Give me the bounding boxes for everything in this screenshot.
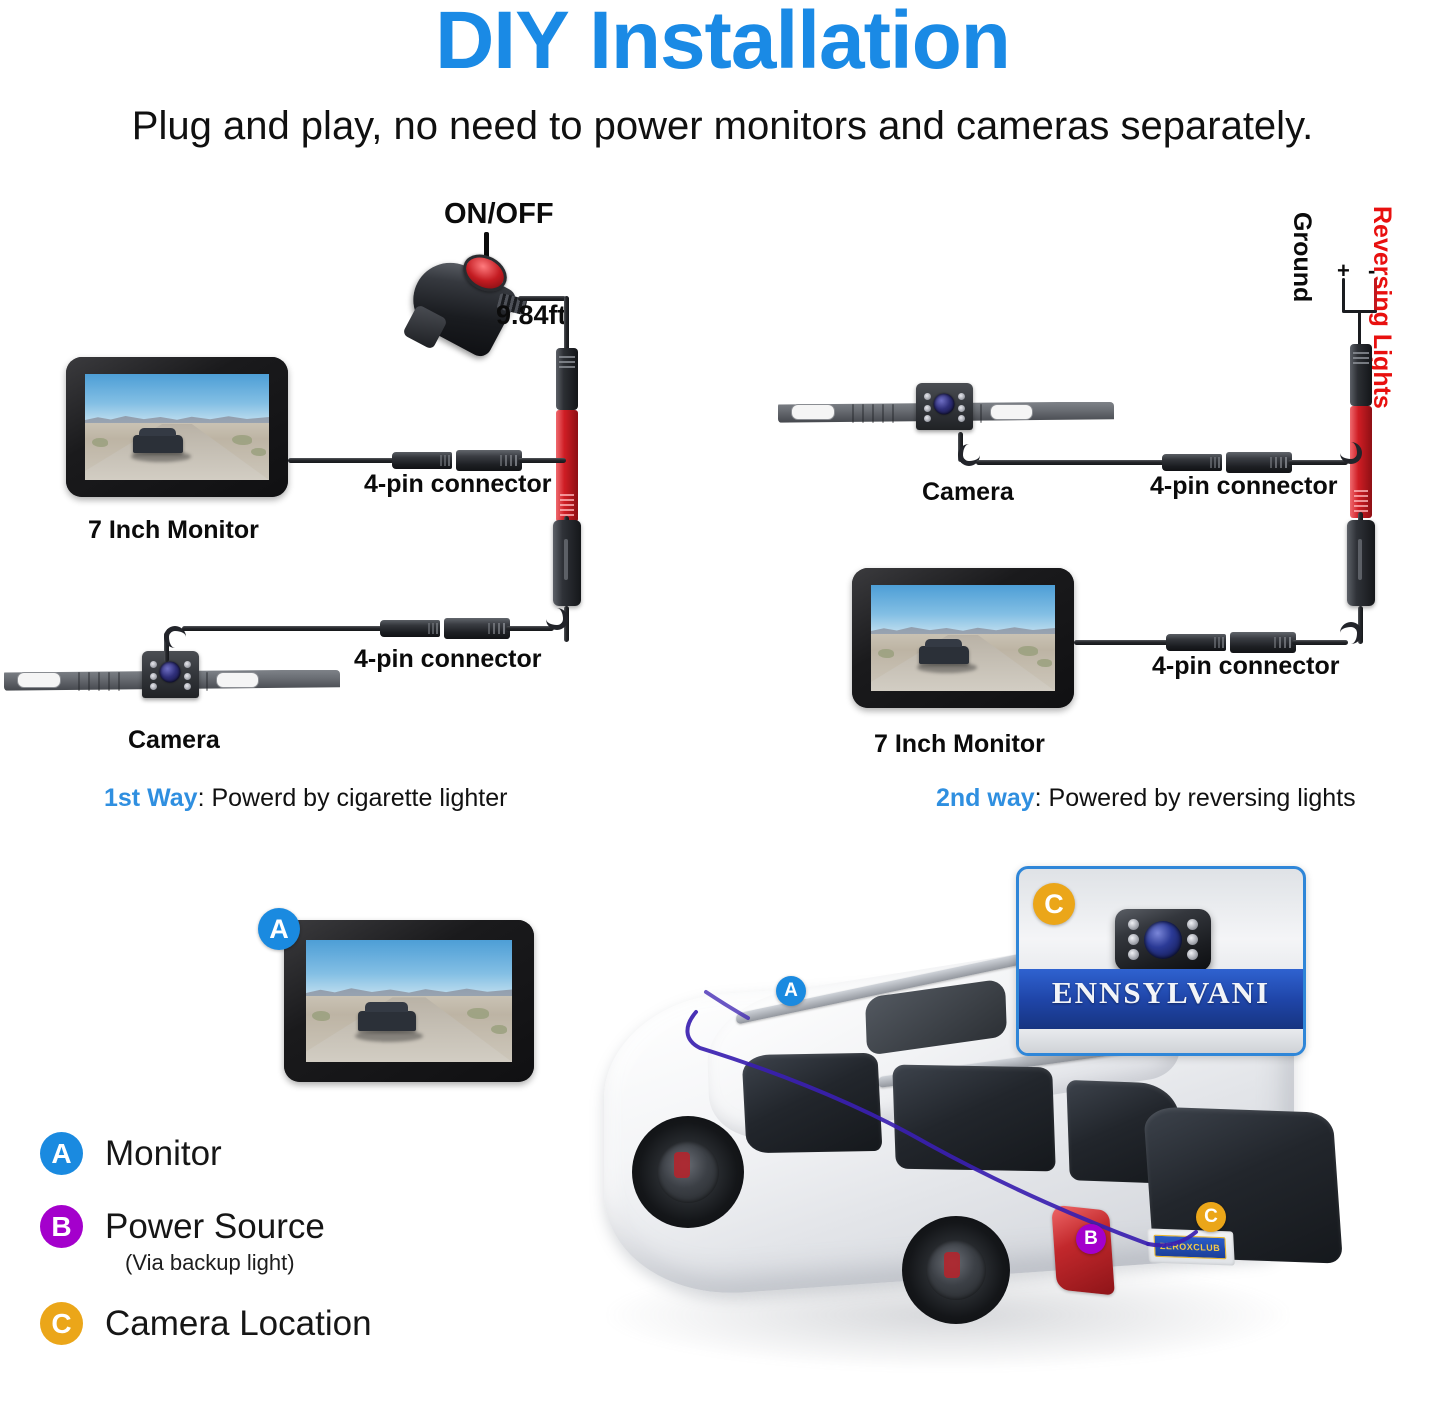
legend-badge-b: B: [40, 1205, 83, 1248]
power-wire-segment: [518, 296, 566, 301]
marker-badge-c-car: C: [1196, 1202, 1226, 1232]
legend-label-camera-location: Camera Location: [105, 1304, 372, 1344]
caption-way2-text: : Powered by reversing lights: [1035, 784, 1356, 812]
inset-monitor-screen: [306, 940, 512, 1062]
camera-wire-way1: [506, 626, 554, 631]
monitor-screen: [871, 585, 1055, 691]
inset-bumper: [1019, 1029, 1303, 1053]
caption-way2-prefix: 2nd way: [936, 784, 1035, 812]
inset-license-plate-text: ENNSYLVANI: [1016, 975, 1306, 1011]
cable-splitter-box-way2: [1347, 520, 1375, 606]
caption-way1-prefix: 1st Way: [104, 784, 198, 812]
car-license-plate-text: ZEROXCLUB: [1155, 1236, 1226, 1259]
camera-wire-way2: [976, 460, 1166, 465]
connector-label-top-way2: 4-pin connector: [1150, 472, 1338, 501]
camera-wire-way1: [182, 626, 384, 631]
marker-badge-b-car: B: [1076, 1224, 1106, 1254]
connector-label-bottom-way1: 4-pin connector: [354, 645, 542, 674]
camera-housing: [142, 651, 199, 698]
legend-label-power-source: Power Source: [105, 1207, 325, 1247]
camera-lens-icon: [160, 661, 181, 682]
monitor-device-way2: [852, 568, 1074, 708]
bracket-slot-right: [990, 404, 1034, 420]
monitor-wire-way1: [518, 458, 566, 463]
car-window-rear: [892, 1065, 1056, 1172]
inset-monitor-device: [284, 920, 534, 1082]
monitor-wire-way2: [1292, 640, 1348, 645]
page-title: DIY Installation: [0, 0, 1445, 88]
diy-installation-infographic: DIY Installation Plug and play, no need …: [0, 0, 1445, 1418]
four-pin-connector-bottom-way1: [380, 620, 510, 637]
monitor-wire-way2: [1074, 640, 1170, 645]
power-wire-segment: [564, 296, 569, 354]
four-pin-connector-bottom-way2: [1166, 634, 1296, 651]
caption-way1-text: : Powerd by cigarette lighter: [198, 784, 508, 812]
legend-item-monitor: A Monitor: [40, 1132, 510, 1175]
camera-label-way1: Camera: [128, 726, 220, 755]
four-pin-connector-top-way2: [1162, 454, 1292, 471]
car-window-front: [742, 1053, 883, 1153]
camera-lens-icon: [934, 393, 955, 414]
ground-lead-wire: [1342, 278, 1345, 312]
legend-badge-c: C: [40, 1302, 83, 1345]
reversing-lead-wire: [1374, 278, 1377, 312]
marker-badge-c-inset: C: [1033, 883, 1075, 925]
inset-camera-location: ENNSYLVANI C: [1016, 866, 1306, 1056]
monitor-label-way2: 7 Inch Monitor: [874, 730, 1045, 759]
power-connector-red: [556, 348, 578, 522]
camera-housing: [916, 383, 973, 430]
inset-license-plate: ENNSYLVANI: [1019, 969, 1303, 1031]
reversing-lights-label-wrap: Reversing Lights: [1396, 206, 1445, 235]
camera-wire-way2: [1288, 460, 1348, 465]
camera-device-way2: [778, 378, 1114, 440]
monitor-device-way1: [66, 357, 288, 497]
camera-device-way1: [4, 646, 340, 708]
cable-splitter-box: [553, 520, 581, 606]
camera-label-way2: Camera: [922, 478, 1014, 507]
marker-badge-a-car: A: [776, 976, 806, 1006]
on-off-label: ON/OFF: [444, 198, 554, 231]
bracket-slot-right: [216, 672, 260, 688]
power-connector-red-way2: [1350, 344, 1372, 518]
monitor-screen: [85, 374, 269, 480]
legend-item-camera-location: C Camera Location: [40, 1302, 510, 1345]
car-license-plate: ZEROXCLUB: [1153, 1235, 1226, 1260]
bracket-slot-left: [17, 672, 61, 688]
connector-label-bottom-way2: 4-pin connector: [1152, 652, 1340, 681]
monitor-wire-way1: [288, 458, 394, 463]
connector-label-top-way1: 4-pin connector: [364, 470, 552, 499]
caption-way2: 2nd way: Powered by reversing lights: [936, 784, 1356, 813]
monitor-label-way1: 7 Inch Monitor: [88, 516, 259, 545]
legend-label-monitor: Monitor: [105, 1134, 222, 1174]
ground-label: Ground: [1287, 212, 1316, 302]
marker-badge-a-monitor: A: [258, 908, 300, 950]
four-pin-connector-top-way1: [392, 452, 522, 469]
legend: A Monitor B Power Source (Via backup lig…: [40, 1132, 510, 1351]
camera-lens-icon: [1144, 921, 1182, 959]
bracket-slot-left: [791, 404, 835, 420]
legend-sublabel-power-source: (Via backup light): [125, 1250, 510, 1276]
legend-badge-a: A: [40, 1132, 83, 1175]
lead-junction-wire: [1358, 312, 1361, 346]
legend-item-power-source: B Power Source: [40, 1205, 510, 1248]
page-subtitle: Plug and play, no need to power monitors…: [0, 104, 1445, 149]
inset-camera-device: [1115, 909, 1211, 971]
cable-length-label: 9.84ft: [496, 300, 567, 331]
caption-way1: 1st Way: Powerd by cigarette lighter: [104, 784, 507, 813]
